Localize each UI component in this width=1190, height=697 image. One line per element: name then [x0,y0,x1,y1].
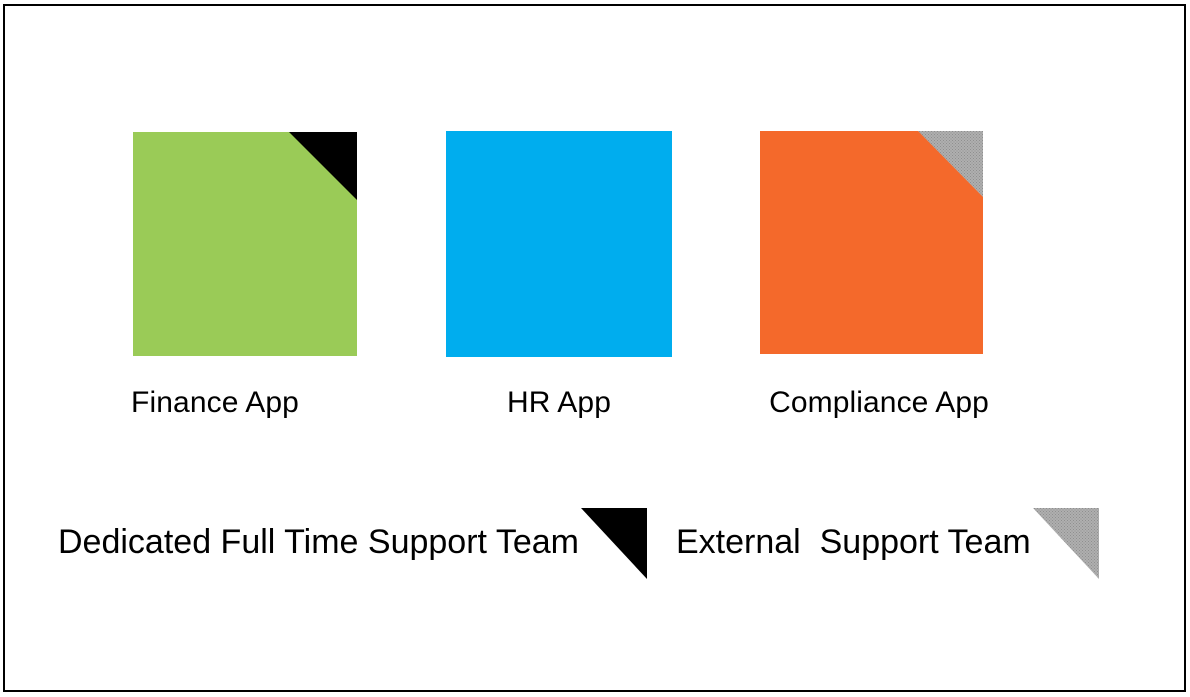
finance-app-square [133,132,357,356]
legend-item-dedicated-support[interactable]: Dedicated Full Time Support Team [58,505,649,579]
dedicated-support-triangle-icon [579,505,649,579]
compliance-app-square [760,131,983,354]
app-label-hr: HR App [507,386,611,420]
legend-item-external-support[interactable]: External Support Team [676,505,1101,579]
external-support-triangle-icon [1031,505,1101,579]
app-label-compliance: Compliance App [769,386,989,420]
diagram-canvas: Finance App HR App Compliance App Dedica… [0,0,1190,697]
hr-app-square [446,131,672,357]
app-tile-finance[interactable] [133,132,357,356]
app-tile-hr[interactable] [446,131,672,357]
legend-label-external-support: External Support Team [676,522,1031,562]
app-tile-compliance[interactable] [760,131,983,354]
legend-label-dedicated-support: Dedicated Full Time Support Team [58,522,579,562]
app-label-finance: Finance App [131,386,299,420]
